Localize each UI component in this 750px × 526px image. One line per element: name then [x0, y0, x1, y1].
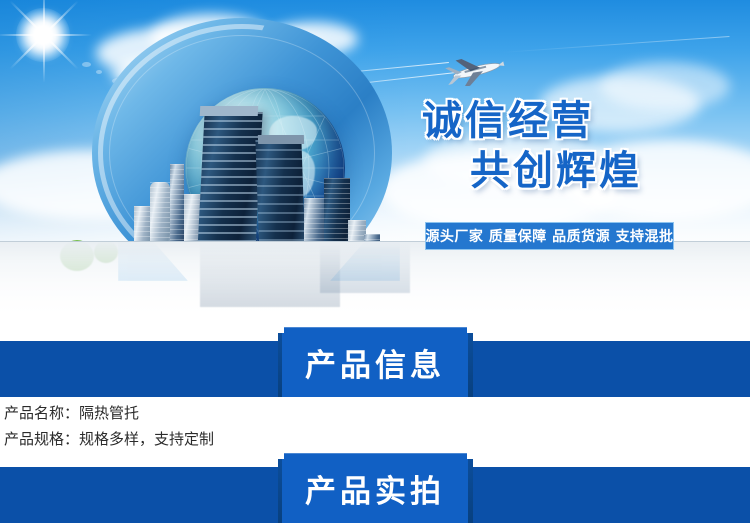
chevron-reflection — [118, 241, 188, 281]
sun-ray — [43, 0, 45, 83]
airplane-icon — [440, 50, 510, 86]
section-header-product-info: 产品信息 — [0, 341, 750, 397]
section-title-product-info: 产品信息 — [282, 327, 468, 397]
building-reflection — [200, 241, 340, 307]
hero-banner: 诚信经营 共创辉煌 源头厂家 质量保障 品质货源 支持混批 — [0, 0, 750, 313]
tab-right-fold — [468, 453, 473, 523]
product-name-row: 产品名称：隔热管托 — [4, 400, 524, 426]
tree-reflection — [60, 241, 94, 271]
banner-badge-text: 源头厂家 质量保障 品质货源 支持混批 — [425, 226, 673, 246]
lens-flare-icon — [82, 62, 91, 67]
product-spec-row: 产品规格：规格多样，支持定制 — [4, 426, 524, 452]
headline-line-2: 共创辉煌 — [400, 146, 740, 196]
tab-right-fold — [468, 327, 473, 397]
section-title-product-photos: 产品实拍 — [282, 453, 468, 523]
tower-secondary-cap — [258, 135, 304, 144]
tower-main-cap — [200, 106, 259, 116]
section-header-product-photos: 产品实拍 — [0, 467, 750, 523]
reflective-floor — [0, 241, 750, 313]
headline-line-1: 诚信经营 — [400, 96, 740, 146]
tree-reflection — [94, 241, 118, 263]
sun-icon — [16, 8, 70, 62]
product-info-list: 产品名称：隔热管托 产品规格：规格多样，支持定制 — [4, 400, 524, 452]
banner-badge: 源头厂家 质量保障 品质货源 支持混批 — [425, 222, 674, 250]
product-detail-page: 诚信经营 共创辉煌 源头厂家 质量保障 品质货源 支持混批 产品信息 产品名称：… — [0, 0, 750, 526]
banner-headline: 诚信经营 共创辉煌 — [400, 96, 740, 196]
